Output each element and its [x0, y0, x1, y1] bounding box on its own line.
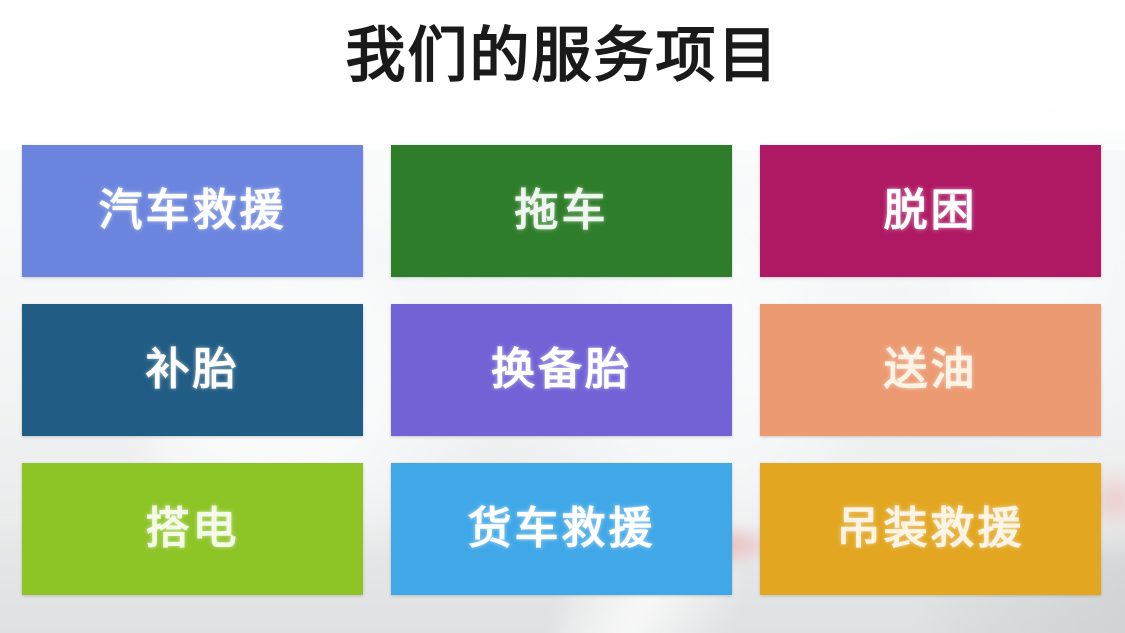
service-tile-label: 送油: [884, 344, 978, 396]
service-tile-label: 货车救援: [468, 503, 656, 555]
page-title: 我们的服务项目: [0, 22, 1125, 90]
service-tile[interactable]: 拖车: [391, 145, 732, 277]
service-tile-label: 脱困: [884, 185, 978, 237]
service-tile[interactable]: 脱困: [760, 145, 1101, 277]
service-tile[interactable]: 汽车救援: [22, 145, 363, 277]
service-grid: 汽车救援拖车脱困补胎换备胎送油搭电货车救援吊装救援: [22, 145, 1103, 595]
service-tile-label: 吊装救援: [837, 503, 1025, 555]
service-tile[interactable]: 搭电: [22, 463, 363, 595]
service-tile-label: 搭电: [146, 503, 240, 555]
service-tile-label: 补胎: [146, 344, 240, 396]
service-tile[interactable]: 吊装救援: [760, 463, 1101, 595]
service-tile[interactable]: 换备胎: [391, 304, 732, 436]
service-tile[interactable]: 补胎: [22, 304, 363, 436]
service-tile-label: 拖车: [515, 185, 609, 237]
service-tile-label: 换备胎: [491, 344, 632, 396]
service-tile-label: 汽车救援: [99, 185, 287, 237]
service-tile[interactable]: 货车救援: [391, 463, 732, 595]
service-tile[interactable]: 送油: [760, 304, 1101, 436]
service-poster: 我们的服务项目 汽车救援拖车脱困补胎换备胎送油搭电货车救援吊装救援: [0, 0, 1125, 633]
